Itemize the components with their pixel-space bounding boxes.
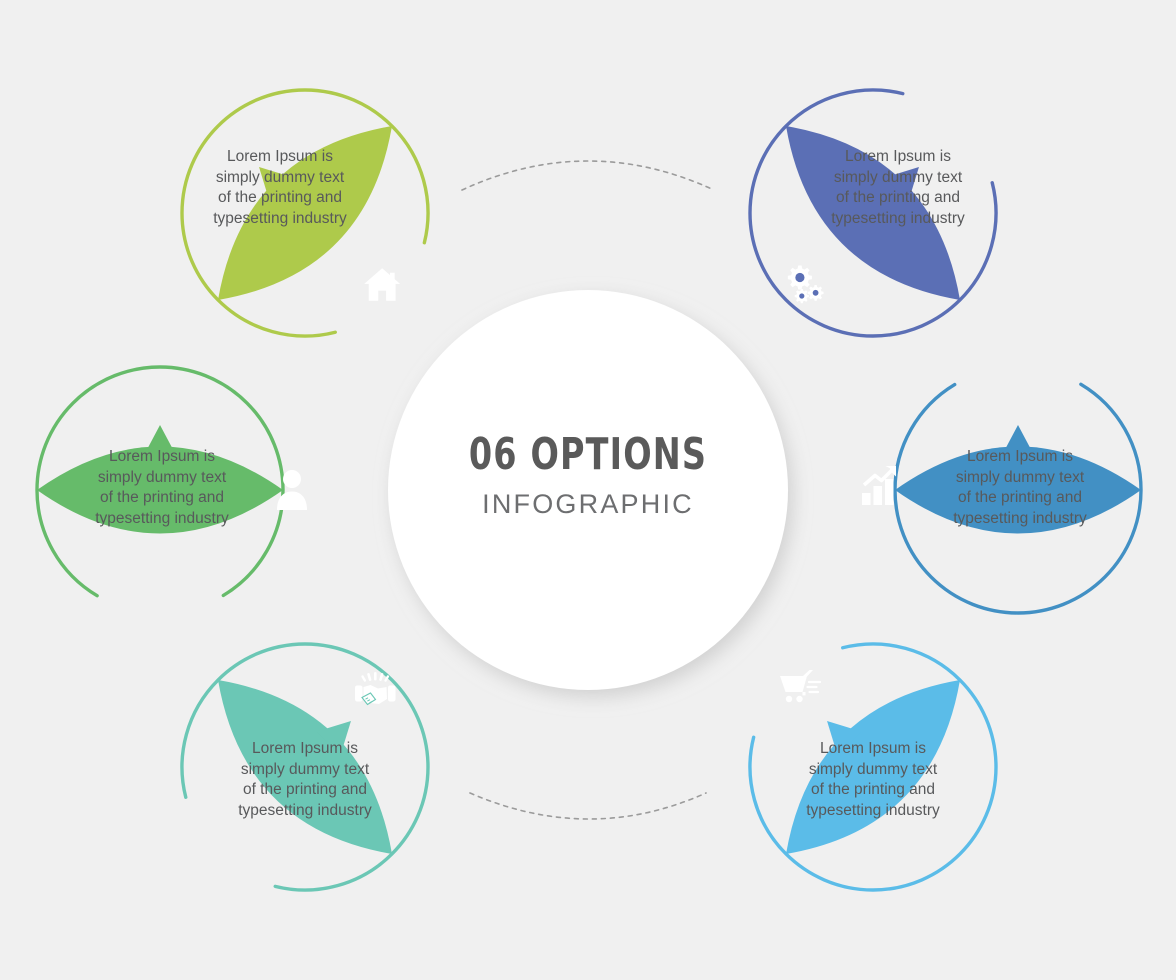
option-3-lens [37,447,283,534]
infographic-canvas: Lorem Ipsum is simply dummy text of the … [0,0,1176,980]
option-5-lens [187,649,422,884]
option-3-group[interactable] [37,367,307,613]
gears-icon [788,266,824,304]
connector-bottom [470,793,706,819]
option-2-lens [755,95,990,330]
infographic-svg [0,0,1176,980]
center-circle[interactable] [388,290,788,690]
option-2-group[interactable] [699,39,1047,387]
option-6-group[interactable] [699,593,1047,941]
option-4-group[interactable] [862,367,1141,613]
home-icon [364,268,400,300]
option-4-lens [895,447,1141,534]
connector-top [462,161,714,190]
growth-chart-icon [862,466,896,505]
option-5-group[interactable] [131,593,479,941]
option-3-pointer [143,425,177,457]
option-1-group[interactable] [131,39,479,387]
option-4-pointer [1001,425,1035,457]
shopping-cart-icon [780,670,820,702]
